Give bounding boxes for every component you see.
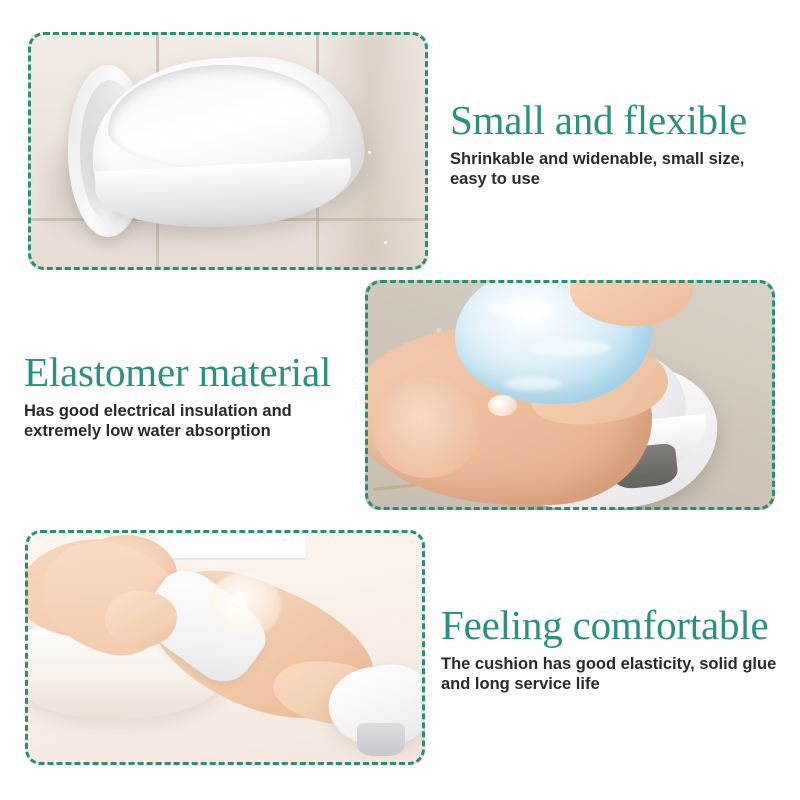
foot-heel bbox=[373, 377, 480, 478]
photo-woman-shaving-leg-with-foot-on-step bbox=[25, 530, 425, 765]
feature-text-elastomer-material: Elastomer material Has good electrical i… bbox=[24, 352, 364, 441]
soap-suds bbox=[488, 395, 517, 416]
feature-heading-small-and-flexible: Small and flexible bbox=[450, 100, 780, 142]
feature-photo-elastomer-material bbox=[365, 280, 775, 510]
shaving-foam bbox=[209, 572, 281, 638]
feature-photo-small-and-flexible bbox=[28, 32, 428, 270]
feature-body-feeling-comfortable: The cushion has good elasticity, solid g… bbox=[441, 654, 786, 694]
feature-body-small-and-flexible: Shrinkable and widenable, small size, ea… bbox=[450, 149, 780, 189]
feature-photo-feeling-comfortable bbox=[25, 530, 425, 765]
feature-text-feeling-comfortable: Feeling comfortable The cushion has good… bbox=[441, 605, 786, 694]
photo-shower-foot-rest-mounted-on-tile-wall bbox=[28, 32, 428, 270]
hand-holding-razor bbox=[105, 591, 177, 647]
feature-heading-elastomer-material: Elastomer material bbox=[24, 352, 364, 394]
infographic-page: Small and flexible Shrinkable and widena… bbox=[0, 0, 800, 800]
wall-panel bbox=[161, 530, 305, 560]
loofah-fold bbox=[529, 340, 611, 356]
feature-text-small-and-flexible: Small and flexible Shrinkable and widena… bbox=[450, 100, 780, 189]
wall-speck bbox=[368, 151, 371, 154]
step-mount-bracket bbox=[357, 723, 405, 756]
feature-body-elastomer-material: Has good electrical insulation and extre… bbox=[24, 401, 364, 441]
loofah-fold bbox=[488, 298, 554, 316]
feature-heading-feeling-comfortable: Feeling comfortable bbox=[441, 605, 786, 647]
photo-foot-on-step-with-blue-loofah bbox=[365, 280, 775, 510]
